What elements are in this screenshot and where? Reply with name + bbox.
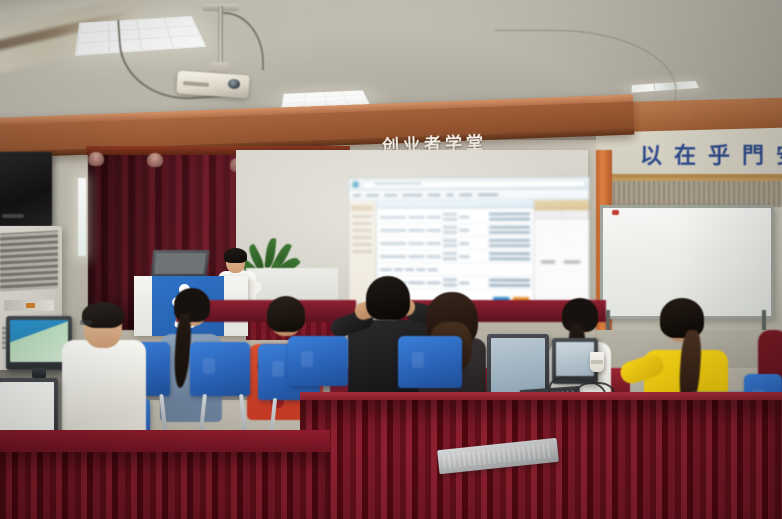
menu-item[interactable] (384, 194, 397, 197)
window-blinds (610, 178, 782, 207)
chair[interactable] (398, 336, 462, 388)
wall-speaker (0, 152, 52, 226)
air-conditioner-vents (0, 230, 58, 291)
menu-item[interactable] (446, 193, 454, 196)
right-panel-tabs[interactable] (534, 210, 588, 219)
sidebar-item[interactable] (352, 236, 372, 239)
wall-calligraphy-text: 以在乎門安 (640, 138, 782, 170)
wall-lamp-2 (147, 153, 163, 167)
right-panel-field (541, 260, 556, 263)
monitor-screen (556, 342, 594, 376)
wall-fluorescent-light (78, 178, 86, 256)
app-right-panel (533, 200, 589, 305)
sidebar-header (351, 205, 373, 211)
sidebar-item[interactable] (352, 250, 372, 253)
chair[interactable] (288, 336, 348, 386)
right-panel-field (564, 260, 581, 263)
left-table-velvet-skirt (0, 452, 330, 519)
menu-item[interactable] (353, 194, 361, 197)
attendee-white-shirt-man (62, 306, 146, 436)
menu-item[interactable] (366, 194, 379, 197)
table-row[interactable] (378, 263, 532, 277)
chair[interactable] (190, 342, 250, 396)
paper-cup-right (590, 352, 604, 372)
table-row[interactable] (378, 224, 532, 237)
address-bar[interactable] (362, 179, 586, 189)
sidebar-item[interactable] (352, 229, 372, 232)
sidebar-item[interactable] (352, 243, 372, 246)
classroom-photo: 创业者学堂 以在乎門安 (0, 0, 782, 519)
sidebar-item[interactable] (352, 222, 372, 225)
presenter-hair (224, 248, 247, 263)
table-row[interactable] (378, 250, 532, 263)
right-panel-body (534, 219, 588, 295)
menu-item[interactable] (459, 193, 472, 196)
menu-item[interactable] (402, 194, 422, 197)
air-conditioner-led-icon (26, 303, 35, 308)
monitor-screen (10, 320, 68, 362)
menu-item[interactable] (428, 193, 441, 196)
podium-laptop (151, 250, 210, 278)
right-panel-header (534, 200, 588, 210)
whiteboard-magnet-icon (612, 210, 619, 215)
table-row[interactable] (378, 237, 532, 250)
table-row[interactable] (378, 210, 532, 224)
menu-item[interactable] (478, 193, 499, 196)
monitor-stand (32, 368, 46, 378)
wall-lamp-1 (88, 152, 104, 166)
app-logo-icon (352, 181, 359, 188)
projector-mount-stem (218, 6, 223, 68)
sidebar-item[interactable] (352, 215, 372, 218)
